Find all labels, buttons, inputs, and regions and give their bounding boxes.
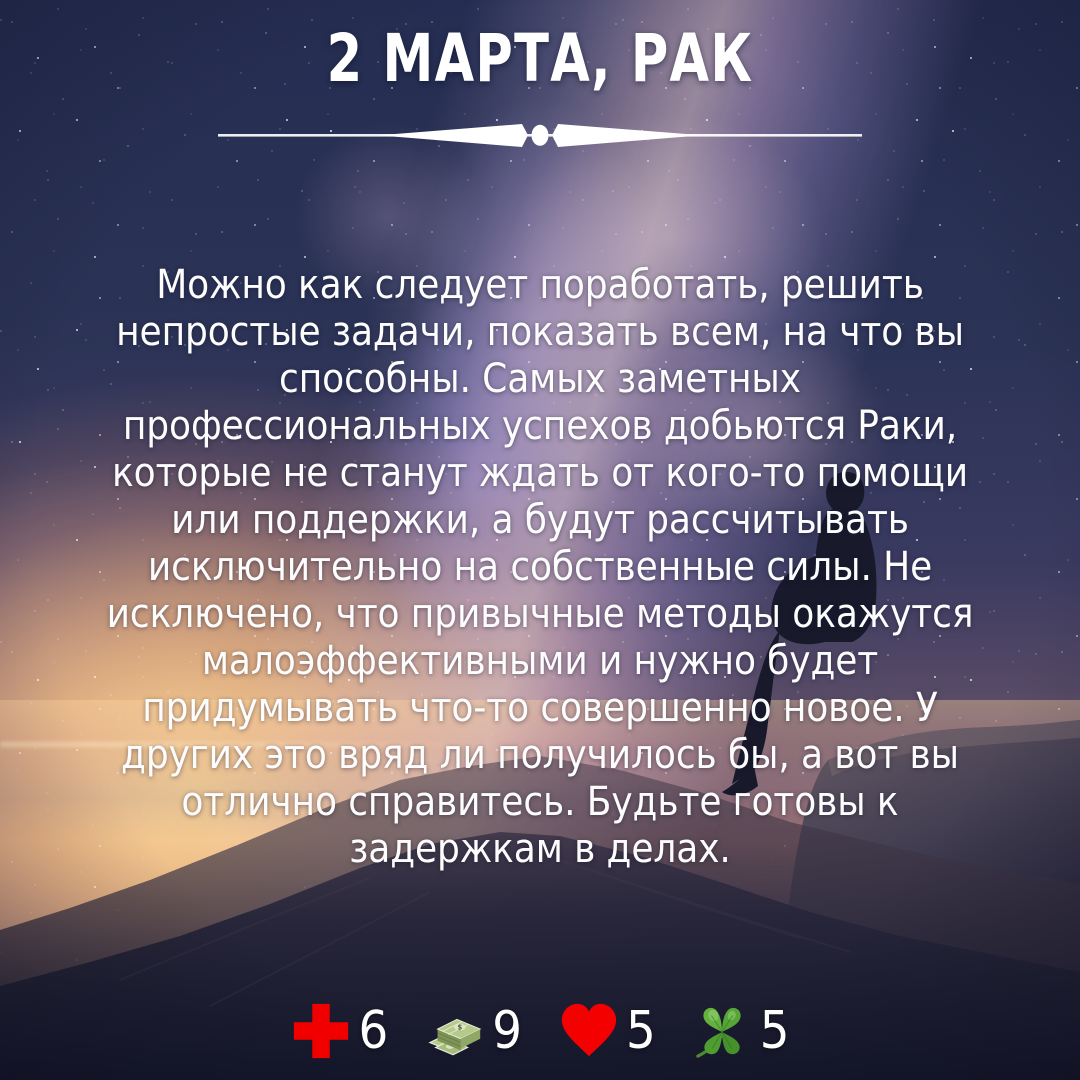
money-banknotes-icon: $ — [424, 1000, 486, 1062]
score-item-luck: 5 — [692, 1000, 790, 1062]
horoscope-card: 2 МАРТА, РАК Можно как следует поработат… — [0, 0, 1080, 1080]
svg-text:$: $ — [458, 1024, 463, 1032]
red-heart-love-icon — [558, 1000, 620, 1062]
four-leaf-clover-luck-icon — [692, 1000, 754, 1062]
score-row: 6 — [0, 1000, 1080, 1062]
red-cross-health-icon — [290, 1000, 352, 1062]
score-value-health: 6 — [358, 1005, 388, 1057]
score-value-money: 9 — [492, 1005, 522, 1057]
horoscope-body-text: Можно как следует поработать, решить неп… — [100, 262, 980, 873]
score-item-love: 5 — [558, 1000, 656, 1062]
score-value-luck: 5 — [760, 1005, 790, 1057]
score-item-money: $ 9 — [424, 1000, 522, 1062]
score-item-health: 6 — [290, 1000, 388, 1062]
page-title: 2 МАРТА, РАК — [76, 26, 1005, 92]
ornamental-divider-icon — [210, 118, 870, 152]
score-value-love: 5 — [626, 1005, 656, 1057]
